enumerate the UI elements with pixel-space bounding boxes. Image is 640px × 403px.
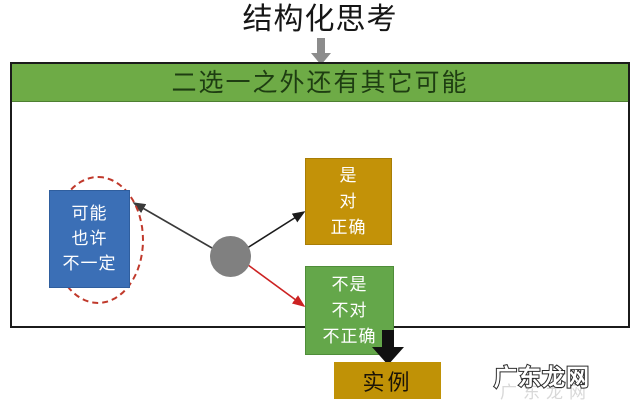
- node-yes-line-2: 对: [340, 189, 358, 215]
- edge-hub-to-yes: [244, 212, 304, 250]
- node-no-line-1: 不是: [332, 272, 368, 298]
- diagram-canvas: 结构化思考 二选一之外还有其它可能: [0, 0, 640, 403]
- node-sample-label: 实例: [362, 365, 412, 397]
- node-no-line-2: 不对: [332, 298, 368, 324]
- main-frame: 二选一之外还有其它可能: [10, 62, 630, 328]
- page-title: 结构化思考: [0, 2, 640, 38]
- node-maybe-line-3: 不一定: [63, 252, 117, 277]
- edge-hub-to-maybe: [134, 203, 212, 248]
- edge-hub-to-no: [244, 262, 304, 306]
- node-maybe-line-2: 也许: [72, 227, 108, 252]
- banner-text: 二选一之外还有其它可能: [171, 69, 468, 97]
- node-no-line-3: 不正确: [323, 324, 377, 350]
- node-sample[interactable]: 实例: [334, 362, 441, 399]
- banner: 二选一之外还有其它可能: [12, 64, 628, 102]
- node-yes[interactable]: 是 对 正确: [305, 158, 392, 245]
- node-hub-circle[interactable]: [210, 236, 251, 277]
- node-maybe[interactable]: 可能 也许 不一定: [49, 190, 130, 288]
- inner-canvas: 可能 也许 不一定 是 对 正确 不是 不对 不正确: [12, 102, 628, 328]
- node-maybe-line-1: 可能: [72, 202, 108, 227]
- watermark-text: 广东龙网: [494, 358, 590, 392]
- node-yes-line-1: 是: [340, 163, 358, 189]
- frame-to-sample-arrow-icon: [370, 330, 406, 366]
- node-yes-line-3: 正确: [331, 215, 367, 241]
